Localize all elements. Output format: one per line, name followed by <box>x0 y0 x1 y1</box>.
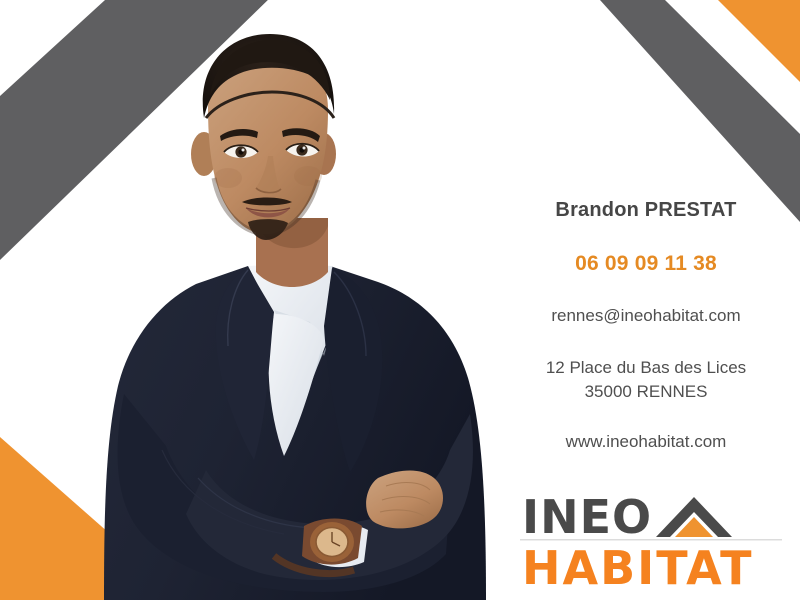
portrait-photo <box>78 26 518 600</box>
contact-name: Brandon PRESTAT <box>498 198 794 222</box>
contact-phone[interactable]: 06 09 09 11 38 <box>498 251 794 276</box>
ineo-habitat-logo[interactable]: INEO HABITAT <box>520 487 782 591</box>
contact-details: Brandon PRESTAT 06 09 09 11 38 rennes@in… <box>498 198 794 452</box>
contact-website[interactable]: www.ineohabitat.com <box>498 432 794 452</box>
orange-corner-triangle <box>718 0 800 82</box>
cheek-shadow-right <box>294 166 322 186</box>
address-line-1: 12 Place du Bas des Lices <box>498 356 794 380</box>
cheek-shadow-left <box>214 168 242 188</box>
contact-address: 12 Place du Bas des Lices 35000 RENNES <box>498 356 794 404</box>
roof-house-icon <box>656 497 732 537</box>
logo-word-ineo: INEO <box>522 490 652 544</box>
gray-diagonal-stripe-right <box>600 0 800 222</box>
contact-email[interactable]: rennes@ineohabitat.com <box>498 306 794 326</box>
logo-word-habitat: HABITAT <box>522 541 754 591</box>
address-line-2: 35000 RENNES <box>498 380 794 404</box>
hand <box>366 471 443 529</box>
business-card: Brandon PRESTAT 06 09 09 11 38 rennes@in… <box>0 0 800 600</box>
